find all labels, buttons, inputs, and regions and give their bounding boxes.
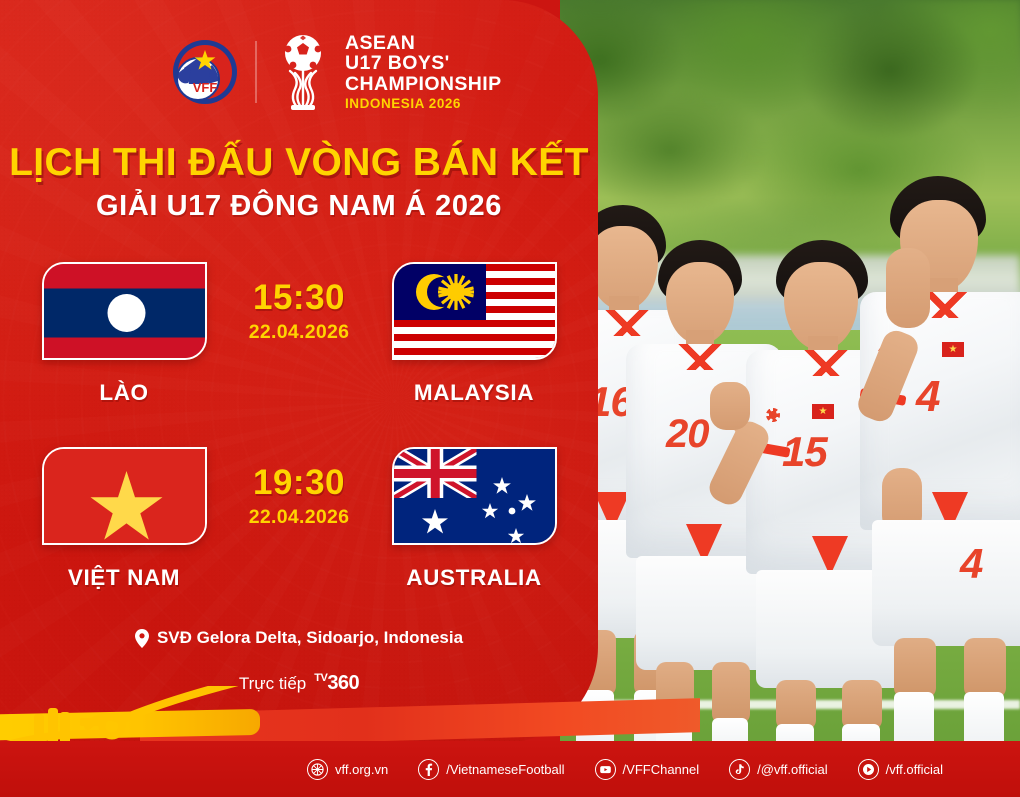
page-subtitle: GIẢI U17 ĐÔNG NAM Á 2026 [0,190,598,223]
match-1-time-block: 15:30 22.04.2026 [224,262,374,344]
match-photo: ★ 16 6 20 [560,0,1020,760]
australia-flag-icon [392,447,557,545]
tournament-line-2: U17 BOYS' [345,53,501,73]
tiktok-icon [729,759,750,780]
zalo-play-icon [858,759,879,780]
footer-label: /VietnameseFootball [446,762,564,777]
info-panel: VFF [0,0,598,743]
page-title: LỊCH THI ĐẤU VÒNG BÁN KẾT [0,141,598,185]
venue-text: SVĐ Gelora Delta, Sidoarjo, Indonesia [157,628,463,648]
footer-item-facebook[interactable]: /VietnameseFootball [418,759,564,780]
location-pin-icon [135,629,149,648]
team-name: AUSTRALIA [406,565,541,591]
thumbs-up-hand [886,248,930,328]
tv360-number: 360 [327,672,359,695]
laos-flag-icon [42,262,207,360]
tv360-logo: TV 360 [314,672,359,695]
footer-label: /vff.official [886,762,943,777]
footer-label: /VFFChannel [623,762,700,777]
team-name: MALAYSIA [414,380,534,406]
poster-root: ★ 16 6 20 [0,0,1020,797]
match-2-away: AUSTRALIA [374,447,574,591]
tournament-year: INDONESIA 2026 [345,97,501,111]
footer-item-zalo[interactable]: /vff.official [858,759,943,780]
logo-divider [255,41,257,103]
tournament-line-3: CHAMPIONSHIP [345,74,501,94]
match-1-away: MALAYSIA [374,262,574,406]
match-date: 22.04.2026 [224,321,374,344]
tournament-line-1: ASEAN [345,33,501,53]
malaysia-flag-icon [392,262,557,360]
facebook-icon [418,759,439,780]
footer-item-tiktok[interactable]: /@vff.official [729,759,828,780]
footer-label: /@vff.official [757,762,828,777]
logo-row: VFF [172,33,501,111]
match-time: 15:30 [224,280,374,315]
vietnam-flag-icon [42,447,207,545]
vff-logo: VFF [172,39,238,105]
footer-bar: vff.org.vn /VietnameseFootball /VFFChann… [0,741,1020,797]
match-1-home: LÀO [24,262,224,406]
jersey-number: 15 [782,428,827,476]
venue-info: SVĐ Gelora Delta, Sidoarjo, Indonesia [0,628,598,648]
trophy-icon [274,33,332,111]
footer-item-website[interactable]: vff.org.vn [307,759,388,780]
jersey-number: 4 [916,372,939,422]
match-time: 19:30 [224,465,374,500]
tournament-logo: ASEAN U17 BOYS' CHAMPIONSHIP INDONESIA 2… [274,33,501,111]
globe-icon [307,759,328,780]
jersey-number: 20 [666,412,709,457]
broadcast-label: Trực tiếp [239,674,306,694]
youtube-icon [595,759,616,780]
match-row-1: LÀO 15:30 22.04.2026 [0,262,598,406]
match-2-home: VIỆT NAM [24,447,224,591]
tv360-prefix: TV [314,672,327,684]
footer-label: vff.org.vn [335,762,388,777]
team-name: VIỆT NAM [68,565,180,591]
match-row-2: VIỆT NAM 19:30 22.04.2026 [0,447,598,591]
vff-logo-text: VFF [193,80,218,95]
open-hand [710,382,750,430]
match-2-time-block: 19:30 22.04.2026 [224,447,374,529]
footer-item-youtube[interactable]: /VFFChannel [595,759,700,780]
team-name: LÀO [99,380,148,406]
match-date: 22.04.2026 [224,506,374,529]
